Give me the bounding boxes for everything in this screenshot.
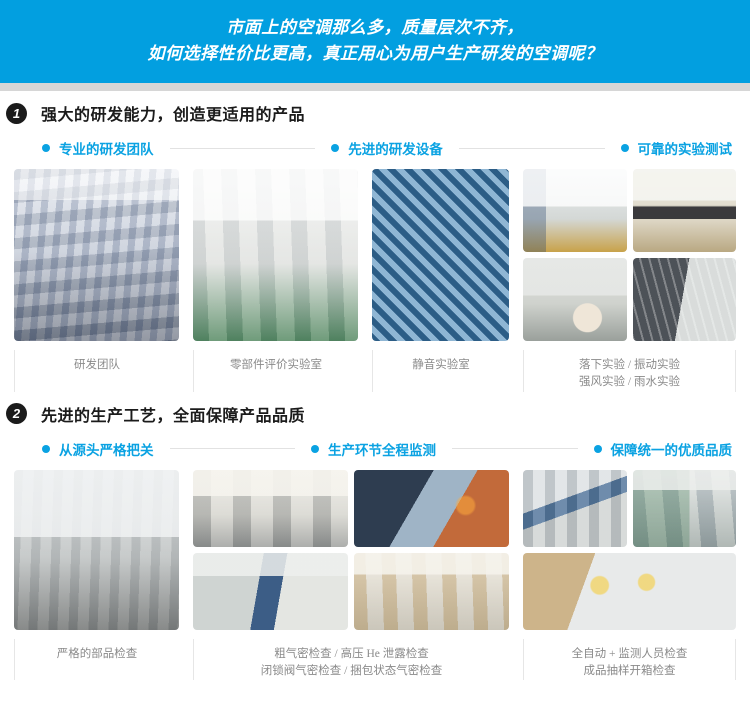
photo-parts-evaluation-lab[interactable] (193, 169, 358, 341)
subhead-process-monitoring[interactable]: 生产环节全程监测 (311, 439, 436, 459)
bullet-dot-icon (42, 144, 50, 152)
caption-testing: 落下实验 / 振动实验 强风实验 / 雨水实验 (523, 350, 736, 392)
photo-column-rd-team (14, 169, 179, 341)
photo-column-process-monitoring (193, 470, 509, 630)
photo-grid-testing (523, 169, 736, 341)
photo-airtightness-test[interactable] (193, 553, 348, 630)
section-1-caption-row: 研发团队 零部件评价实验室 静音实验室 落下实验 / 振动实验 强风实验 / 雨… (0, 350, 750, 392)
photo-welding[interactable] (354, 470, 509, 547)
subhead-source-control[interactable]: 从源头严格把关 (42, 439, 154, 459)
banner-divider (0, 83, 750, 91)
header-banner: 市面上的空调那么多，质量层次不齐， 如何选择性价比更高，真正用心为用户生产研发的… (0, 0, 750, 83)
subhead-divider-2 (452, 448, 578, 449)
section-number-badge: 1 (6, 103, 27, 124)
photo-drop-test[interactable] (523, 169, 627, 252)
photo-auto-monitoring[interactable] (633, 470, 737, 547)
photo-grid-quality (523, 470, 736, 630)
section-manufacturing: 2 先进的生产工艺，全面保障产品品质 从源头严格把关 生产环节全程监测 保障统一… (0, 392, 750, 681)
photo-column-source-control (14, 470, 179, 630)
page-title: 先进的生产工艺，全面保障产品品质 (41, 402, 305, 426)
section-2-caption-row: 严格的部品检查 粗气密检查 / 高压 He 泄露检查 闭锁阀气密检查 / 捆包状… (0, 639, 750, 681)
section-1-photo-grid (0, 161, 750, 341)
caption-line: 零部件评价实验室 (230, 357, 322, 374)
section-rd-capability: 1 强大的研发能力，创造更适用的产品 专业的研发团队 先进的研发设备 可靠的实验… (0, 91, 750, 392)
section-2-photo-grid (0, 462, 750, 630)
bullet-dot-icon (42, 445, 50, 453)
section-number-badge: 2 (6, 403, 27, 424)
subhead-rd-team[interactable]: 专业的研发团队 (42, 138, 154, 158)
section-2-subheading-row: 从源头严格把关 生产环节全程监测 保障统一的优质品质 (0, 436, 750, 462)
photo-packing-check[interactable] (354, 553, 509, 630)
subhead-label: 可靠的实验测试 (638, 138, 733, 158)
caption-line: 成品抽样开箱检查 (584, 663, 676, 680)
product-detail-page: 市面上的空调那么多，质量层次不齐， 如何选择性价比更高，真正用心为用户生产研发的… (0, 0, 750, 706)
caption-line: 严格的部品检查 (57, 646, 138, 663)
subhead-divider-1 (170, 448, 296, 449)
photo-column-rd-equipment (193, 169, 509, 341)
subhead-quality-assurance[interactable]: 保障统一的优质品质 (594, 439, 733, 459)
subhead-reliable-testing[interactable]: 可靠的实验测试 (621, 138, 733, 158)
photo-rain-test[interactable] (633, 258, 737, 341)
caption-line: 落下实验 / 振动实验 (579, 357, 680, 374)
photo-rd-team[interactable] (14, 169, 179, 341)
photo-production-line[interactable] (193, 470, 348, 547)
subhead-label: 先进的研发设备 (348, 138, 443, 158)
subhead-label: 生产环节全程监测 (328, 439, 436, 459)
bullet-dot-icon (311, 445, 319, 453)
caption-anechoic-lab: 静音实验室 (372, 350, 509, 392)
banner-line-2: 如何选择性价比更高，真正用心为用户生产研发的空调呢？ (148, 43, 603, 66)
photo-column-quality-assurance (523, 470, 736, 630)
subhead-label: 专业的研发团队 (59, 138, 154, 158)
caption-line: 强风实验 / 雨水实验 (579, 374, 680, 391)
section-1-subheading-row: 专业的研发团队 先进的研发设备 可靠的实验测试 (0, 135, 750, 161)
banner-line-1: 市面上的空调那么多，质量层次不齐， (226, 17, 524, 40)
subhead-label: 保障统一的优质品质 (611, 439, 733, 459)
section-2-header: 2 先进的生产工艺，全面保障产品品质 (0, 392, 750, 436)
section-1-header: 1 强大的研发能力，创造更适用的产品 (0, 91, 750, 135)
bullet-dot-icon (331, 144, 339, 152)
photo-grid-production (193, 470, 509, 630)
photo-sampling-unboxing[interactable] (523, 553, 736, 630)
caption-rd-team: 研发团队 (14, 350, 179, 392)
caption-final-inspection: 全自动 + 监测人员检查 成品抽样开箱检查 (523, 639, 736, 681)
caption-line: 粗气密检查 / 高压 He 泄露检查 (274, 646, 429, 663)
bullet-dot-icon (594, 445, 602, 453)
caption-parts-lab: 零部件评价实验室 (193, 350, 358, 392)
caption-line: 静音实验室 (412, 357, 470, 374)
photo-wind-test[interactable] (523, 258, 627, 341)
photo-parts-warehouse[interactable] (14, 470, 179, 630)
subhead-rd-equipment[interactable]: 先进的研发设备 (331, 138, 443, 158)
caption-line: 全自动 + 监测人员检查 (572, 646, 688, 663)
bullet-dot-icon (621, 144, 629, 152)
caption-parts-inspection: 严格的部品检查 (14, 639, 179, 681)
caption-airtightness: 粗气密检查 / 高压 He 泄露检查 闭锁阀气密检查 / 捆包状态气密检查 (193, 639, 509, 681)
photo-column-reliable-testing (523, 169, 736, 341)
page-title: 强大的研发能力，创造更适用的产品 (41, 101, 305, 125)
photo-vibration-test[interactable] (633, 169, 737, 252)
photo-anechoic-lab[interactable] (372, 169, 509, 341)
photo-high-pressure-device[interactable] (523, 470, 627, 547)
subhead-divider-1 (170, 148, 316, 149)
subhead-divider-2 (459, 148, 605, 149)
subhead-label: 从源头严格把关 (59, 439, 154, 459)
caption-line: 研发团队 (74, 357, 120, 374)
caption-line: 闭锁阀气密检查 / 捆包状态气密检查 (261, 663, 442, 680)
